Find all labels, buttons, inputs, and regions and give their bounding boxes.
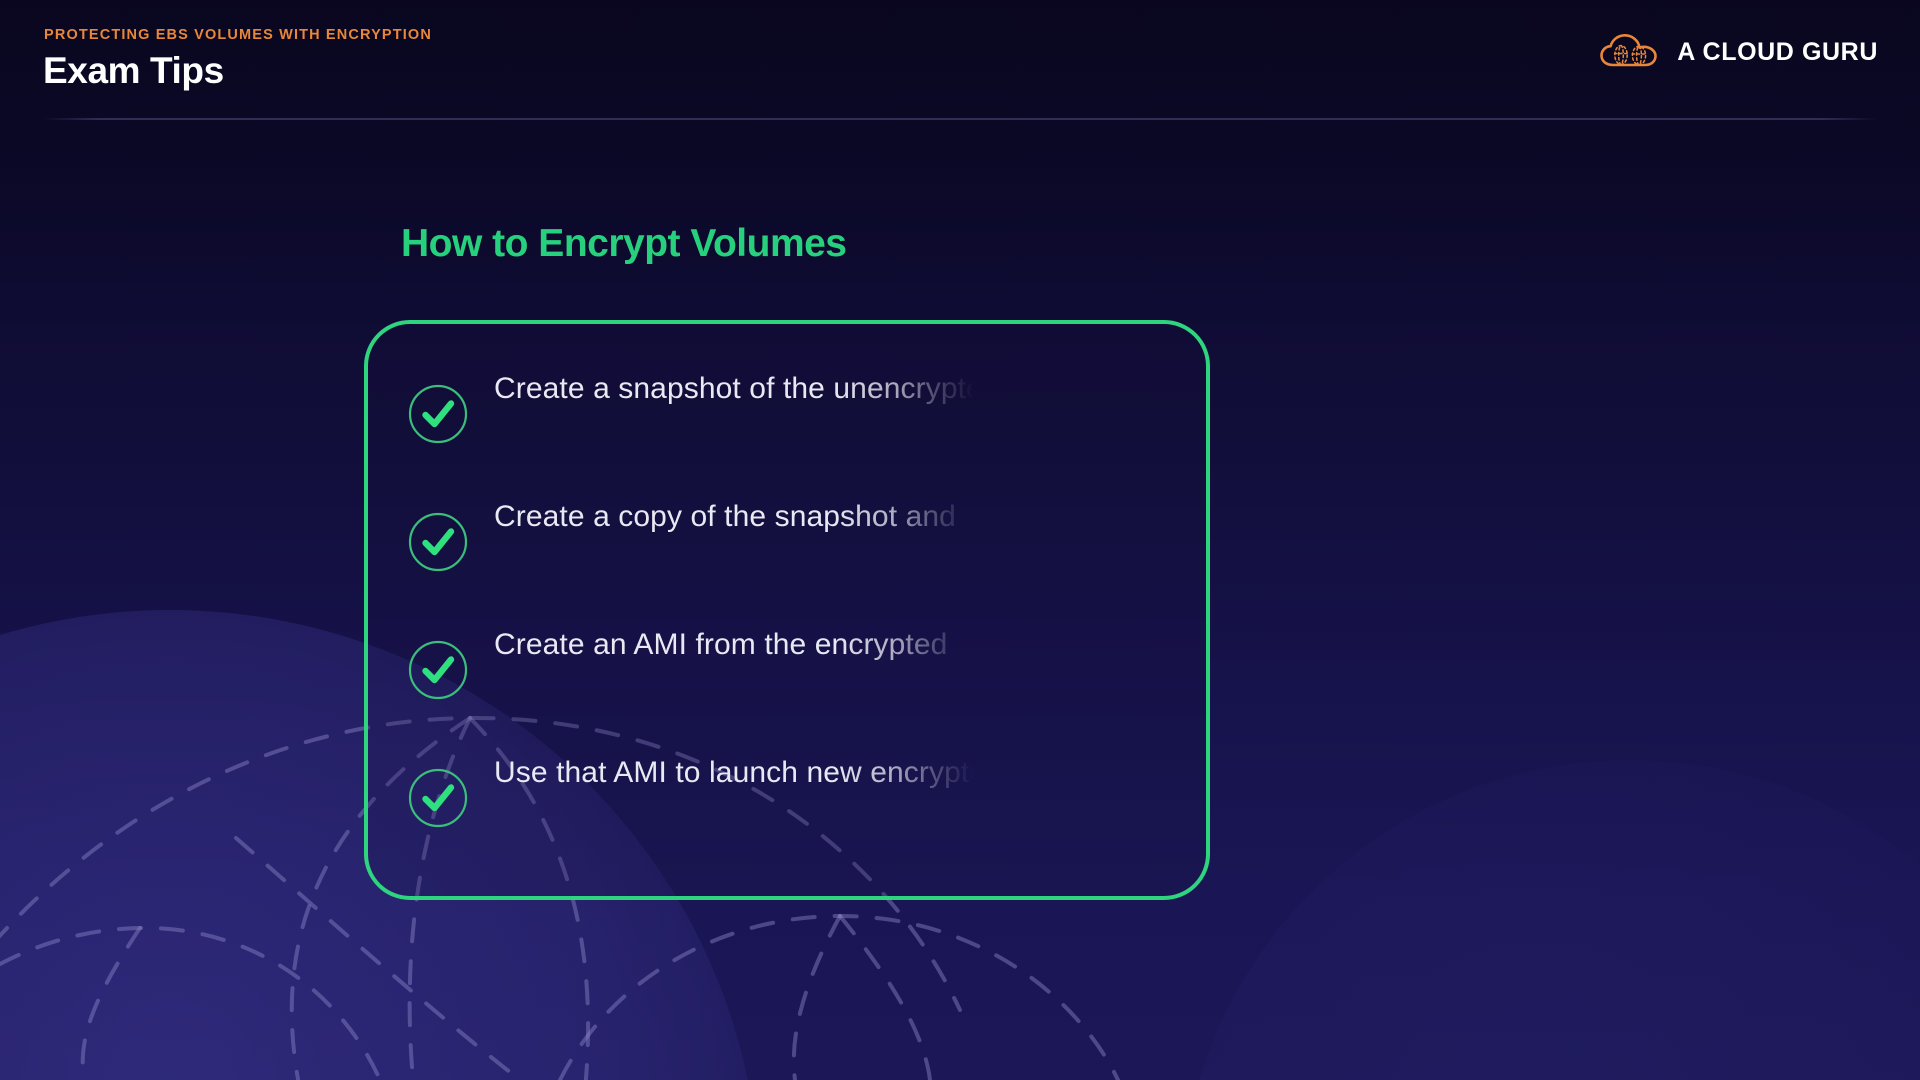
list-item-line-2: select the encrypt option.	[494, 536, 830, 578]
list-item-line-1: Use that AMI to launch new encrypted	[494, 752, 1194, 794]
brand-lockup: A CLOUD GURU	[1599, 32, 1878, 72]
cloud-globe-icon	[1599, 32, 1663, 72]
list-item-text-block: Create an AMI from the encrypted snapsho…	[494, 622, 1194, 666]
header-eyebrow-label: PROTECTING EBS VOLUMES WITH ENCRYPTION	[44, 27, 432, 43]
check-circle-icon	[408, 768, 468, 828]
list-item-line-2: snapshot.	[494, 664, 625, 706]
list-item: Create a snapshot of the unencrypted roo…	[408, 366, 1174, 460]
list-item-text-block: Create a copy of the snapshot and select…	[494, 494, 1194, 538]
list-item: Create an AMI from the encrypted snapsho…	[408, 622, 1174, 716]
list-item-line-2: instances.	[494, 792, 630, 834]
background-glow-circle-right	[1180, 760, 1920, 1080]
page-title: Exam Tips	[43, 50, 224, 92]
brand-name: A CLOUD GURU	[1677, 38, 1878, 67]
list-item-line-2: device volume.	[494, 408, 696, 450]
check-circle-icon	[408, 384, 468, 444]
section-heading: How to Encrypt Volumes	[401, 222, 847, 266]
list-item-text-block: Use that AMI to launch new encrypted ins…	[494, 750, 1194, 794]
list-item-text-block: Create a snapshot of the unencrypted roo…	[494, 366, 1194, 410]
list-item: Create a copy of the snapshot and select…	[408, 494, 1174, 588]
list-item-line-1: Create a snapshot of the unencrypted roo…	[494, 368, 1194, 410]
check-circle-icon	[408, 512, 468, 572]
slide-header: PROTECTING EBS VOLUMES WITH ENCRYPTION E…	[0, 0, 1920, 120]
list-item: Use that AMI to launch new encrypted ins…	[408, 750, 1174, 844]
list-item-line-1: Create a copy of the snapshot and	[494, 496, 1194, 538]
header-divider	[43, 118, 1878, 120]
slide-canvas: PROTECTING EBS VOLUMES WITH ENCRYPTION E…	[0, 0, 1920, 1080]
checklist: Create a snapshot of the unencrypted roo…	[408, 366, 1174, 844]
check-circle-icon	[408, 640, 468, 700]
checklist-card: Create a snapshot of the unencrypted roo…	[364, 320, 1210, 900]
list-item-line-1: Create an AMI from the encrypted	[494, 624, 1194, 666]
